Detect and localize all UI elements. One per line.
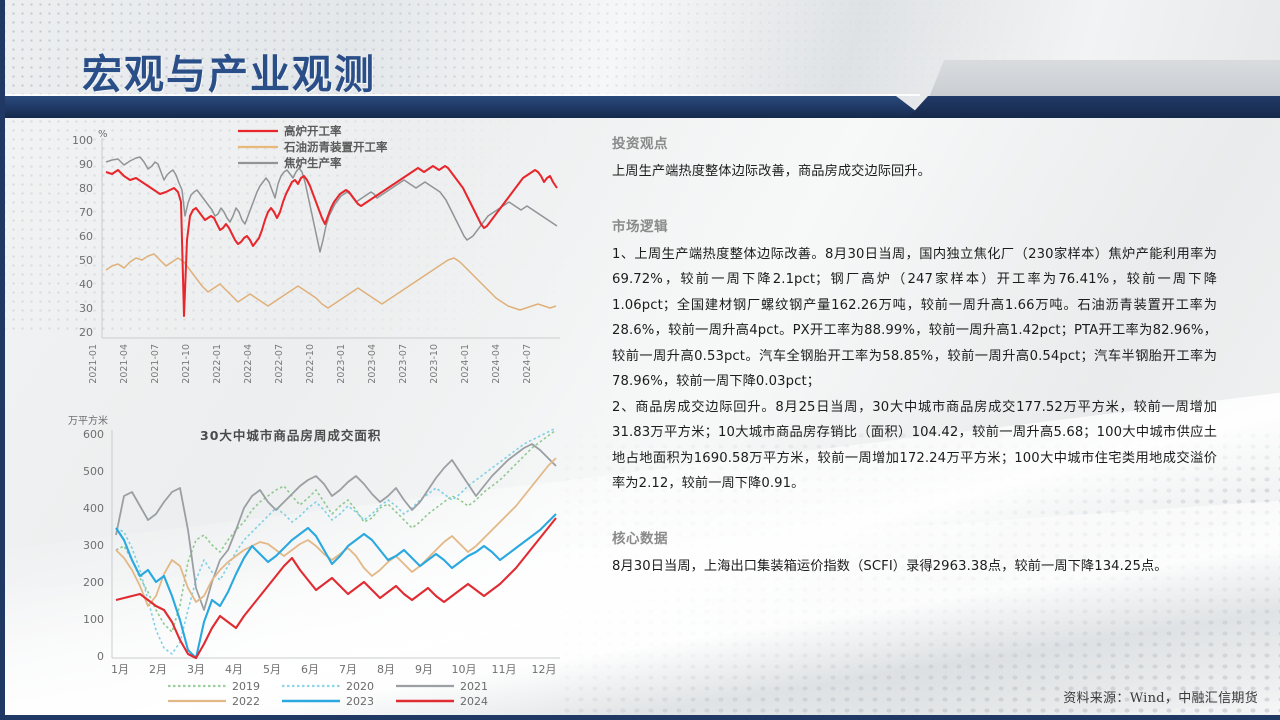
section-market-logic-heading: 市场逻辑 [612, 215, 1217, 235]
chart1-xtick-8: 2023-01 [336, 344, 347, 384]
chart1-xtick-14: 2024-07 [522, 344, 533, 384]
chart1-xtick-7: 2022-10 [305, 344, 316, 384]
chart2-x-axis: 1月 2月 3月 4月 5月 6月 7月 8月 9月 10月 11月 12月 [111, 663, 557, 676]
chart1-ytick-8: 20 [79, 326, 93, 339]
spacer-1 [612, 201, 1217, 215]
chart1-series-asphalt [106, 254, 556, 310]
chart2-ytick-2: 400 [83, 502, 104, 515]
chart1-ytick-2: 80 [79, 182, 93, 195]
chart2-xtick-7: 8月 [377, 663, 395, 676]
chart1-ytick-0: 100 [72, 134, 93, 147]
chart2-xtick-2: 3月 [187, 663, 205, 676]
chart2-xtick-0: 1月 [111, 663, 129, 676]
chart1-ytick-3: 70 [79, 206, 93, 219]
chart2-xtick-3: 4月 [225, 663, 243, 676]
chart1-legend-label-0: 高炉开工率 [284, 124, 342, 138]
chart2-legend: 2019 2020 2021 2022 2023 2024 [168, 680, 488, 708]
chart1-y-axis: 100 90 80 70 60 50 40 30 20 [72, 134, 93, 339]
chart1-ytick-5: 50 [79, 254, 93, 267]
chart1-xtick-9: 2023-04 [367, 344, 378, 384]
page-title: 宏观与产业观测 [82, 42, 376, 100]
section-core-data: 核心数据 8月30日当周，上海出口集装箱运价指数（SCFI）录得2963.38点… [612, 527, 1217, 580]
chart1-legend: 高炉开工率 石油沥青装置开工率 焦炉生产率 [238, 124, 388, 170]
chart2-legend-label-0: 2019 [232, 680, 260, 693]
chart2-legend-label-2: 2021 [460, 680, 488, 693]
chart2-y-axis: 600 500 400 300 200 100 0 [83, 428, 104, 663]
chart1-xtick-2: 2021-07 [150, 344, 161, 384]
left-edge-rule [0, 0, 5, 720]
chart1-ytick-6: 40 [79, 278, 93, 291]
slide-canvas: 宏观与产业观测 % 100 90 80 70 60 50 40 30 20 [0, 0, 1280, 720]
bottom-edge-rule [0, 715, 1280, 720]
chart2-xtick-6: 7月 [339, 663, 357, 676]
section-investment-view-heading: 投资观点 [612, 132, 1217, 152]
chart1-xtick-13: 2024-04 [491, 344, 502, 384]
chart1-y-unit: % [98, 129, 108, 140]
chart1-legend-label-1: 石油沥青装置开工率 [283, 140, 388, 154]
chart1-xtick-0: 2021-01 [88, 344, 99, 384]
section-core-data-body: 8月30日当周，上海出口集装箱运价指数（SCFI）录得2963.38点，较前一周… [612, 554, 1217, 580]
chart1-legend-label-2: 焦炉生产率 [283, 156, 342, 170]
chart-housing-svg: 万平方米 30大中城市商品房周成交面积 600 500 400 300 200 … [60, 410, 570, 710]
chart2-xtick-4: 5月 [263, 663, 281, 676]
chart2-xtick-11: 12月 [532, 663, 557, 676]
chart-operating-rates-svg: % 100 90 80 70 60 50 40 30 20 [60, 120, 570, 405]
chart2-ytick-5: 100 [83, 613, 104, 626]
chart1-ytick-7: 30 [79, 302, 93, 315]
chart2-xtick-8: 9月 [415, 663, 433, 676]
chart2-y-unit: 万平方米 [68, 414, 108, 427]
slide-header: 宏观与产业观测 [0, 0, 1280, 118]
spacer-2 [612, 513, 1217, 527]
chart2-xtick-10: 11月 [492, 663, 517, 676]
section-market-logic: 市场逻辑 1、上周生产端热度整体边际改善。8月30日当周，国内独立焦化厂（230… [612, 215, 1217, 497]
chart2-xtick-5: 6月 [301, 663, 319, 676]
chart2-legend-label-4: 2023 [346, 695, 374, 708]
chart1-series-blastfurnace [106, 166, 557, 316]
chart2-xtick-9: 10月 [452, 663, 477, 676]
chart1-series-coke [106, 157, 557, 252]
chart2-ytick-4: 200 [83, 576, 104, 589]
chart2-ytick-1: 500 [83, 465, 104, 478]
chart1-xtick-1: 2021-04 [119, 344, 130, 384]
chart1-ytick-4: 60 [79, 230, 93, 243]
chart-operating-rates: % 100 90 80 70 60 50 40 30 20 [60, 120, 570, 405]
chart2-legend-label-1: 2020 [346, 680, 374, 693]
section-investment-view: 投资观点 上周生产端热度整体边际改善，商品房成交边际回升。 [612, 132, 1217, 185]
chart2-ytick-6: 0 [97, 650, 104, 663]
chart-column: % 100 90 80 70 60 50 40 30 20 [60, 120, 580, 710]
chart2-title: 30大中城市商品房周成交面积 [200, 428, 381, 443]
chart1-xtick-11: 2023-10 [429, 344, 440, 384]
chart1-x-axis: 2021-01 2021-04 2021-07 2021-10 2022-01 … [88, 344, 533, 384]
chart2-legend-label-5: 2024 [460, 695, 488, 708]
section-market-logic-para-1: 1、上周生产端热度整体边际改善。8月30日当周，国内独立焦化厂（230家样本）焦… [612, 242, 1217, 395]
chart1-xtick-4: 2022-01 [212, 344, 223, 384]
chart1-xtick-10: 2023-07 [398, 344, 409, 384]
chart1-xtick-5: 2022-04 [243, 344, 254, 384]
chart2-ytick-0: 600 [83, 428, 104, 441]
chart1-xtick-12: 2024-01 [460, 344, 471, 384]
chart2-legend-label-3: 2022 [232, 695, 260, 708]
chart1-xtick-6: 2022-07 [274, 344, 285, 384]
section-core-data-heading: 核心数据 [612, 527, 1217, 547]
chart2-ytick-3: 300 [83, 539, 104, 552]
commentary-column: 投资观点 上周生产端热度整体边际改善，商品房成交边际回升。 市场逻辑 1、上周生… [612, 132, 1217, 707]
chart2-xtick-1: 2月 [149, 663, 167, 676]
chart1-xtick-3: 2021-10 [181, 344, 192, 384]
section-investment-view-body: 上周生产端热度整体边际改善，商品房成交边际回升。 [612, 159, 1217, 185]
chart2-series-2020 [116, 428, 556, 654]
source-note: 资料来源：Wind，中融汇信期货 [1063, 687, 1258, 706]
chart-housing-transaction-area: 万平方米 30大中城市商品房周成交面积 600 500 400 300 200 … [60, 410, 570, 710]
section-market-logic-para-2: 2、商品房成交边际回升。8月25日当周，30大中城市商品房成交177.52万平方… [612, 395, 1217, 497]
chart2-series-2022 [116, 458, 556, 606]
chart1-ytick-1: 90 [79, 158, 93, 171]
